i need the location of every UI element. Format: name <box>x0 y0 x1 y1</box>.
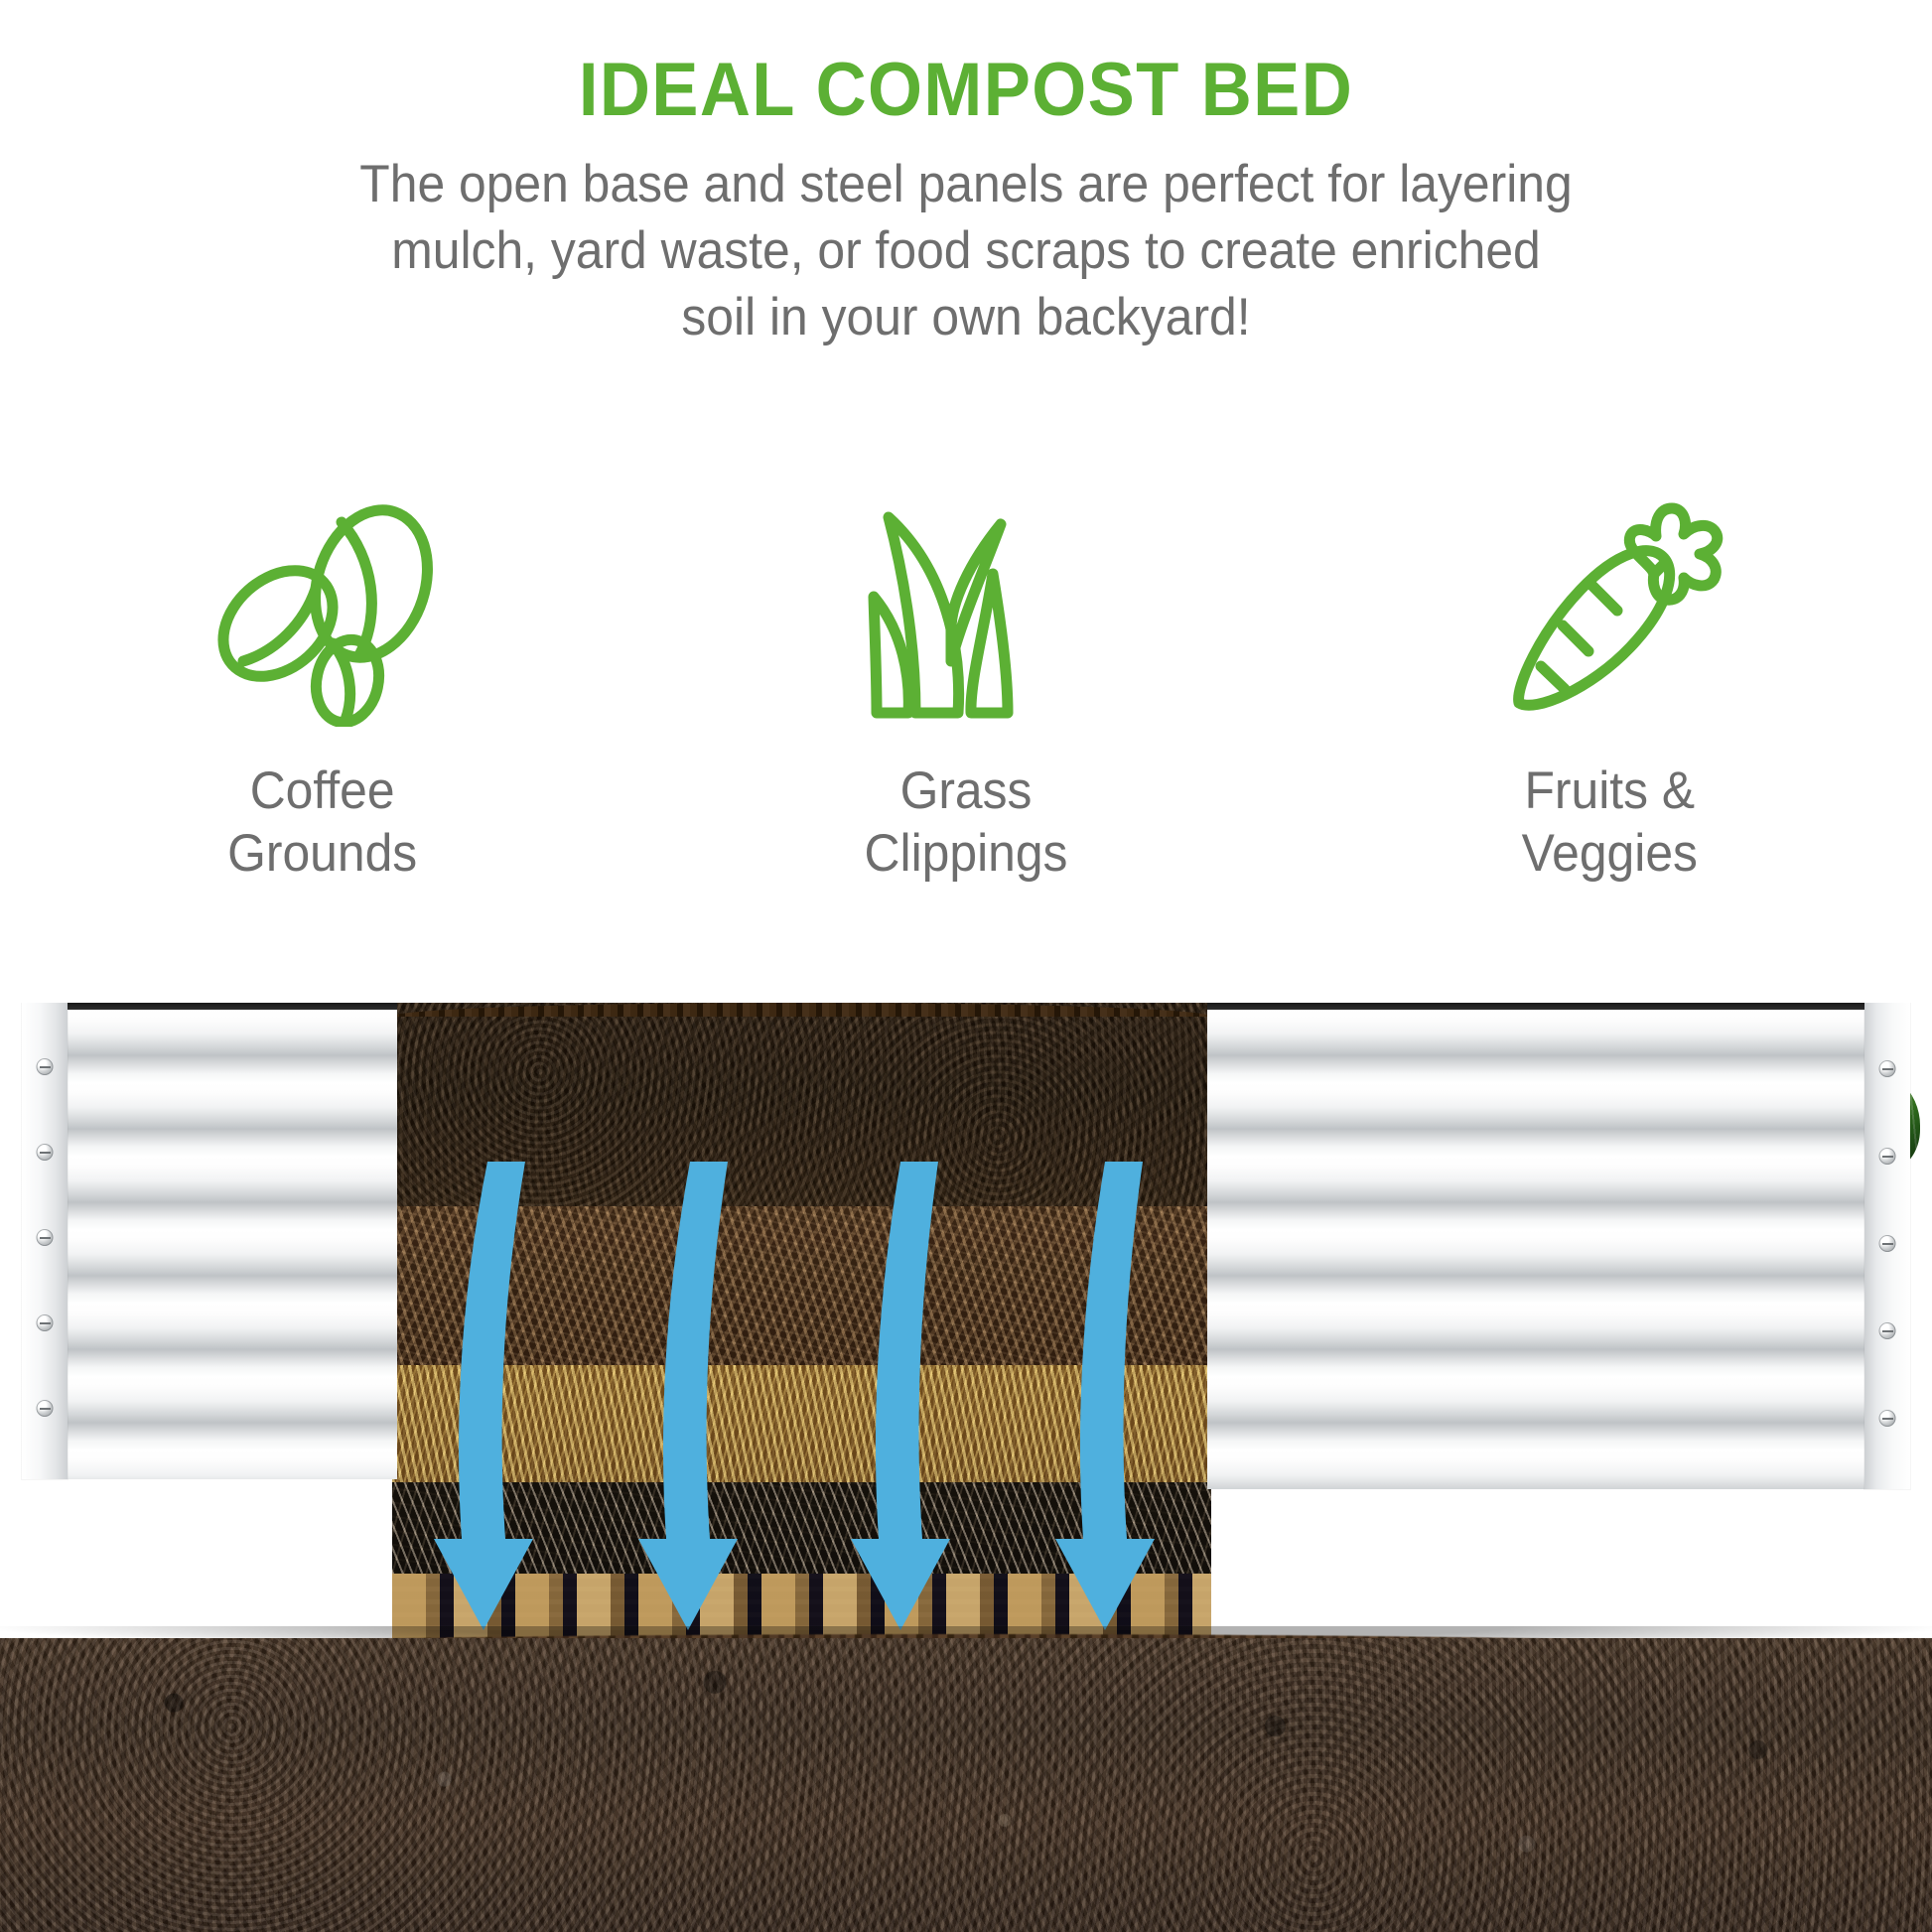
product-photo <box>0 1003 1932 1932</box>
feature-label-fruits: Fruits & Veggies <box>1522 760 1698 885</box>
feature-label-coffee: Coffee Grounds <box>227 760 417 885</box>
label-line-2: Veggies <box>1522 823 1698 886</box>
screw <box>1879 1322 1896 1339</box>
corner-post-right <box>1864 1003 1910 1489</box>
coffee-beans-icon <box>173 449 471 727</box>
screw <box>37 1229 54 1246</box>
screw <box>37 1400 54 1417</box>
subtitle-line-2: mulch, yard waste, or food scraps to cre… <box>58 217 1873 284</box>
label-line-2: Clippings <box>865 823 1068 886</box>
subtitle-line-3: soil in your own backyard! <box>58 284 1873 350</box>
corrugated-steel-panel-right <box>1207 1003 1910 1489</box>
garden-soil-ground <box>0 1638 1932 1932</box>
feature-coffee-grounds: Coffee Grounds <box>0 449 644 885</box>
label-line-1: Fruits & <box>1522 760 1698 823</box>
header: IDEAL COMPOST BED The open base and stee… <box>0 0 1932 350</box>
feature-fruits-veggies: Fruits & Veggies <box>1288 449 1932 885</box>
panel-corrugation-left <box>22 1010 397 1479</box>
screw <box>37 1144 54 1161</box>
subtitle-line-1: The open base and steel panels are perfe… <box>58 151 1873 217</box>
screw <box>1879 1148 1896 1165</box>
feature-label-grass: Grass Clippings <box>865 760 1068 885</box>
carrot-icon <box>1461 449 1759 727</box>
screw <box>1879 1060 1896 1077</box>
screw <box>37 1058 54 1075</box>
infographic-page: IDEAL COMPOST BED The open base and stee… <box>0 0 1932 1932</box>
label-line-1: Grass <box>865 760 1068 823</box>
feature-icon-row: Coffee Grounds Grass Clipp <box>0 449 1932 885</box>
feature-grass-clippings: Grass Clippings <box>644 449 1289 885</box>
page-subtitle: The open base and steel panels are perfe… <box>58 129 1873 351</box>
screw <box>1879 1410 1896 1427</box>
screw <box>1879 1235 1896 1252</box>
screw <box>37 1314 54 1331</box>
label-line-1: Coffee <box>227 760 417 823</box>
label-line-2: Grounds <box>227 823 417 886</box>
page-title: IDEAL COMPOST BED <box>68 0 1864 129</box>
panel-corrugation-right <box>1207 1010 1910 1489</box>
corrugated-steel-panel-left <box>22 1003 397 1479</box>
grass-blades-icon <box>817 449 1115 727</box>
corner-post-left <box>22 1003 68 1479</box>
